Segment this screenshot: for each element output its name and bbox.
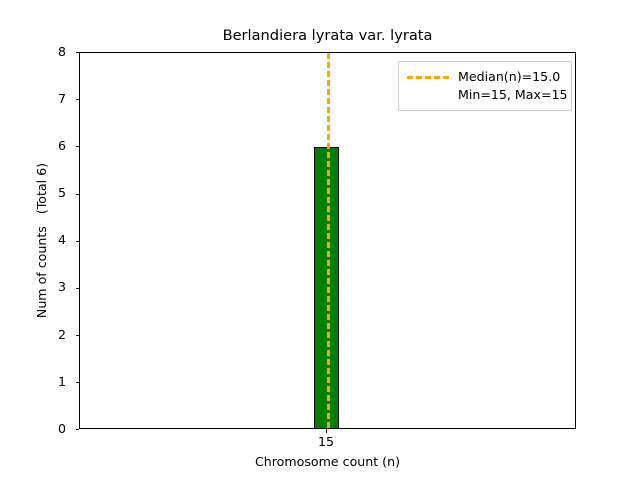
x-tick-mark-15 — [326, 429, 327, 433]
chart-title: Berlandiera lyrata var. lyrata — [79, 27, 576, 45]
legend: Median(n)=15.0 Min=15, Max=15 — [398, 61, 572, 111]
matplotlib-figure: Berlandiera lyrata var. lyrata 0 1 2 3 4… — [0, 0, 640, 480]
y-tick-mark-0 — [76, 429, 80, 430]
x-tick-label-15: 15 — [306, 435, 346, 448]
legend-entry-minmax: Min=15, Max=15 — [407, 86, 563, 104]
legend-entry-median: Median(n)=15.0 — [407, 68, 563, 86]
blank-line-icon — [407, 94, 449, 97]
median-line — [327, 53, 330, 428]
dashed-line-icon — [407, 76, 449, 79]
x-axis-label: Chromosome count (n) — [79, 454, 576, 469]
y-axis-label: Num of counts (Total 6) — [33, 52, 51, 429]
legend-label-median: Median(n)=15.0 — [458, 68, 560, 86]
legend-label-minmax: Min=15, Max=15 — [458, 86, 568, 104]
